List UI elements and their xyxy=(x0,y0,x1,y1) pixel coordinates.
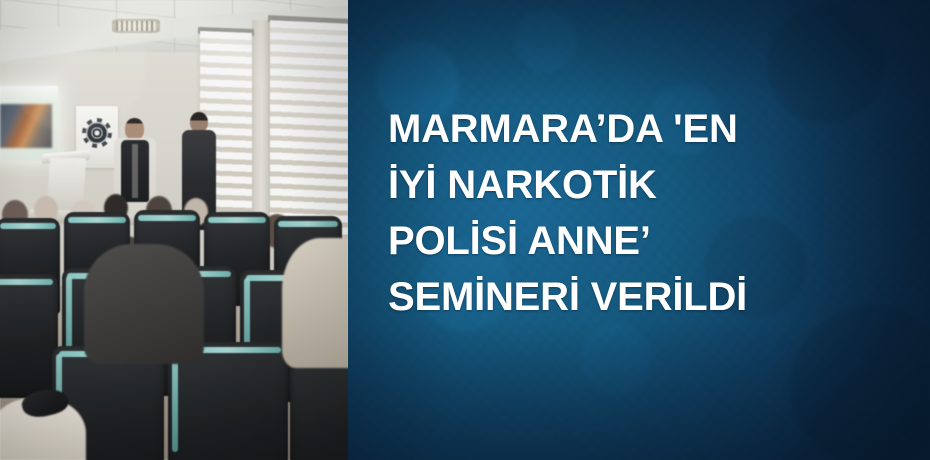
headline-line-2: İYİ NARKOTİK xyxy=(388,157,908,213)
headline-line-1: MARMARA’DA 'EN xyxy=(388,101,908,157)
photo-scene xyxy=(0,0,348,460)
seminar-photo xyxy=(0,0,348,460)
attendee-coat xyxy=(84,244,204,364)
headline-text: MARMARA’DA 'EN İYİ NARKOTİK POLİSİ ANNE’… xyxy=(388,101,908,325)
attendee-coat xyxy=(282,238,348,368)
headline-panel: MARMARA’DA 'EN İYİ NARKOTİK POLİSİ ANNE’… xyxy=(348,0,930,460)
slide-image xyxy=(0,104,52,148)
police-emblem-icon xyxy=(86,122,108,144)
headline-line-3: POLİSİ ANNE’ xyxy=(388,213,908,269)
projection-screen xyxy=(0,86,58,160)
seat xyxy=(0,274,58,398)
news-thumbnail-card: MARMARA’DA 'EN İYİ NARKOTİK POLİSİ ANNE’… xyxy=(0,0,930,460)
presenter-vest-head xyxy=(125,118,144,140)
ceiling-light-icon xyxy=(112,19,160,33)
tactical-vest xyxy=(121,140,149,202)
headline-line-4: SEMİNERİ VERİLDİ xyxy=(388,269,908,325)
slide-header-band xyxy=(0,86,58,102)
